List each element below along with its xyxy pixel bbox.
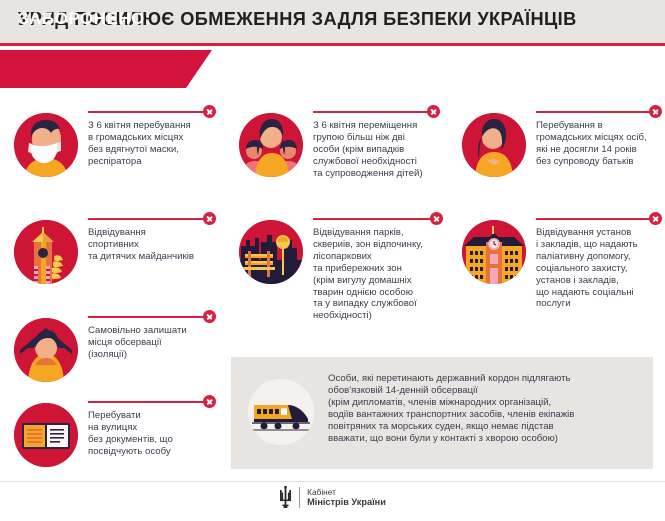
close-icon [649, 105, 662, 118]
connector [88, 310, 222, 324]
footer-separator [299, 487, 300, 508]
close-icon [203, 105, 216, 118]
ukraine-trident-icon [279, 486, 292, 508]
footer: Кабінет Міністрів України [0, 486, 665, 508]
train-icon [248, 379, 314, 445]
connector [313, 212, 455, 226]
footer-line-2: Міністрів України [307, 497, 386, 507]
footer-line-1: Кабінет [307, 487, 336, 497]
close-icon [203, 212, 216, 225]
connector [536, 105, 662, 119]
park-bench-icon [239, 220, 303, 284]
footer-divider [0, 481, 665, 482]
close-icon [203, 310, 216, 323]
connector [88, 395, 222, 409]
list-item-label: З 6 квітня переміщення групою більш ніж … [313, 119, 449, 180]
connector [536, 212, 665, 226]
prohibited-banner [0, 50, 212, 88]
playground-icon [14, 220, 78, 284]
close-icon [649, 212, 662, 225]
connector [88, 105, 219, 119]
list-item-label: Відвідування парків, сквериів, зон відпо… [313, 226, 455, 322]
title-underline-rule [0, 43, 665, 46]
list-item-label: Перебування в громадських місцях осіб, я… [536, 119, 662, 168]
footer-org-name: Кабінет Міністрів України [307, 487, 386, 508]
person-with-mask-icon [14, 113, 78, 177]
list-item-label: Перебувати на вулицях без документів, що… [88, 409, 222, 458]
connector [88, 212, 222, 226]
identity-document-icon [14, 403, 78, 467]
connector [313, 105, 449, 119]
list-item-label: Самовільно залишати місця обсервації (із… [88, 324, 222, 361]
border-crossing-note: Особи, які перетинають державний кордон … [231, 357, 653, 469]
person-leaving-house-icon [14, 318, 78, 382]
border-crossing-note-text: Особи, які перетинають державний кордон … [328, 373, 640, 446]
prohibited-banner-label: ЗАБОРОНЕНО: [18, 9, 151, 29]
list-item-label: З 6 квітня перебування в громадських міс… [88, 119, 219, 168]
close-icon [427, 105, 440, 118]
close-icon [203, 395, 216, 408]
group-of-people-icon [239, 113, 303, 177]
list-item-label: Відвідування спортивних та дитячих майда… [88, 226, 222, 263]
list-item-label: Відвідування установ і закладів, що нада… [536, 226, 665, 310]
child-icon [462, 113, 526, 177]
institution-building-icon [462, 220, 526, 284]
close-icon [430, 212, 443, 225]
